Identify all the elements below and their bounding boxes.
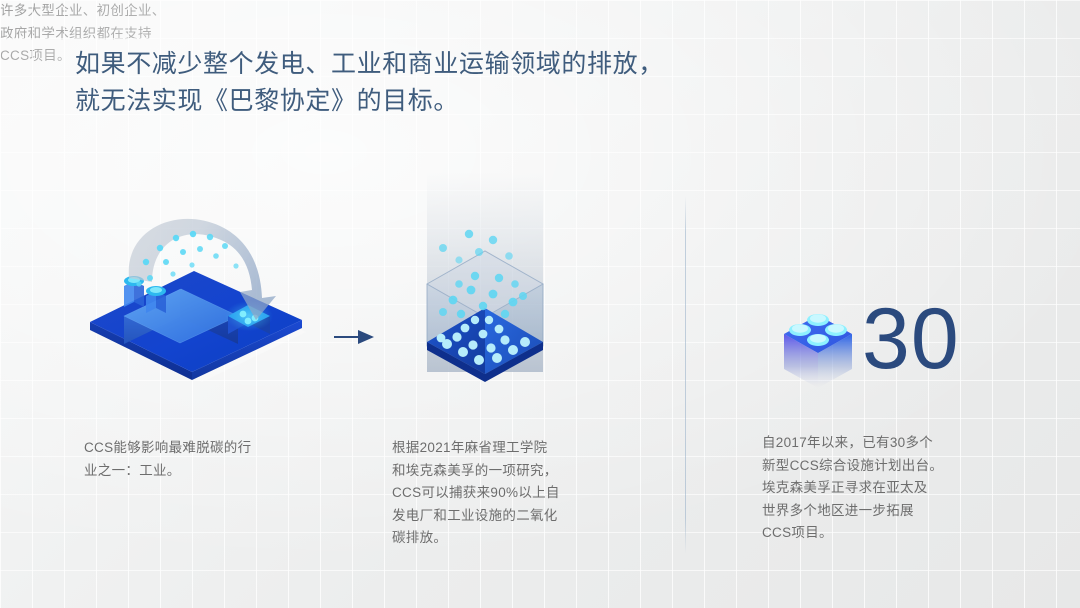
caption-projects: 自2017年以来，已有30多个 新型CCS综合设施计划出台。 埃克森美孚正寻求在… xyxy=(762,432,1002,545)
carbon-storage-container-illustration xyxy=(405,172,565,397)
caption-storage: 根据2021年麻省理工学院 和埃克森美孚的一项研究， CCS可以捕获来90%以上… xyxy=(392,437,607,550)
page-title: 如果不减少整个发电、工业和商业运输领域的排放， 就无法实现《巴黎协定》的目标。 xyxy=(75,46,835,120)
cube-block-icon xyxy=(778,304,858,390)
vertical-divider xyxy=(685,196,686,554)
industrial-plant-capture-illustration xyxy=(80,190,320,390)
stat-number-30: 30 xyxy=(862,296,960,382)
right-arrow-icon xyxy=(330,326,380,348)
slide-canvas: 如果不减少整个发电、工业和商业运输领域的排放， 就无法实现《巴黎协定》的目标。 xyxy=(0,0,1080,608)
caption-industry: CCS能够影响最难脱碳的行 业之一：工业。 xyxy=(84,437,314,482)
